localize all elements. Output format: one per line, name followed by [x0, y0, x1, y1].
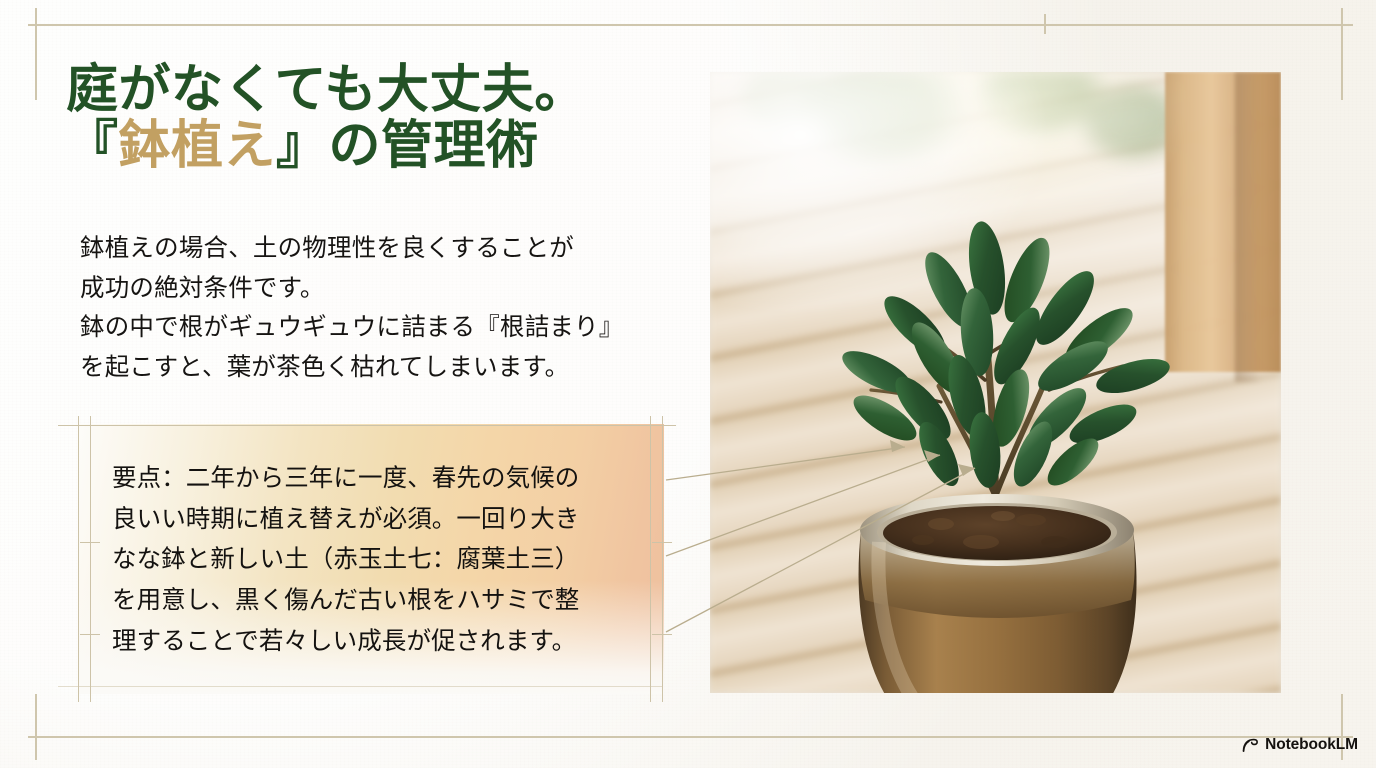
frame-rule-top-left-vertical	[35, 8, 37, 100]
key-point-callout: 要点：二年から三年に一度、春先の気候の 良いい時期に植え替えが必須。一回り大き …	[64, 424, 664, 694]
frame-rule-top	[28, 24, 1353, 26]
plant-photo	[710, 72, 1281, 693]
callout-line: 良いい時期に植え替えが必須。一回り大き	[112, 499, 657, 540]
title-line-1: 庭がなくても大丈夫。	[66, 62, 686, 118]
frame-tick-top-center	[1044, 14, 1046, 34]
frame-rule-bottom-left-vertical	[35, 694, 37, 760]
callout-line: を用意し、黒く傷んだ古い根をハサミで整	[112, 580, 657, 621]
body-paragraph: 鉢植えの場合、土の物理性を良くすることが 成功の絶対条件です。 鉢の中で根がギュ…	[80, 228, 690, 387]
body-line: 成功の絶対条件です。	[80, 268, 690, 308]
notebooklm-spiral-icon	[1241, 738, 1258, 753]
body-line: 鉢の中で根がギュウギュウに詰まる『根詰まり』	[80, 307, 690, 347]
callout-line: 要点：二年から三年に一度、春先の気候の	[112, 458, 657, 499]
title-line-2: 『鉢植え』の管理術	[66, 118, 686, 174]
frame-rule-top-right-vertical	[1341, 8, 1343, 100]
callout-body: 要点：二年から三年に一度、春先の気候の 良いい時期に植え替えが必須。一回り大き …	[112, 458, 657, 661]
notebooklm-logo-text: NotebookLM	[1265, 736, 1358, 754]
pot-svg	[831, 472, 1161, 693]
title-bracket-close: 』	[276, 115, 329, 176]
ceramic-pot	[831, 472, 1161, 693]
title-line-2-rest: の管理術	[329, 115, 539, 176]
slide-title: 庭がなくても大丈夫。 『鉢植え』の管理術	[66, 62, 686, 174]
notebooklm-logo: NotebookLM	[1241, 736, 1358, 754]
callout-line: なな鉢と新しい土（赤玉土七：腐葉土三）	[112, 539, 657, 580]
ficus-plant	[781, 150, 1211, 520]
callout-line: 理することで若々しい成長が促されます。	[112, 621, 657, 662]
body-line: 鉢植えの場合、土の物理性を良くすることが	[80, 228, 690, 268]
plant-svg	[781, 150, 1211, 520]
title-bracket-open: 『	[66, 115, 119, 176]
title-keyword: 鉢植え	[119, 115, 277, 176]
frame-rule-bottom	[28, 736, 1353, 738]
body-line: を起こすと、葉が茶色く枯れてしまいます。	[80, 347, 690, 387]
